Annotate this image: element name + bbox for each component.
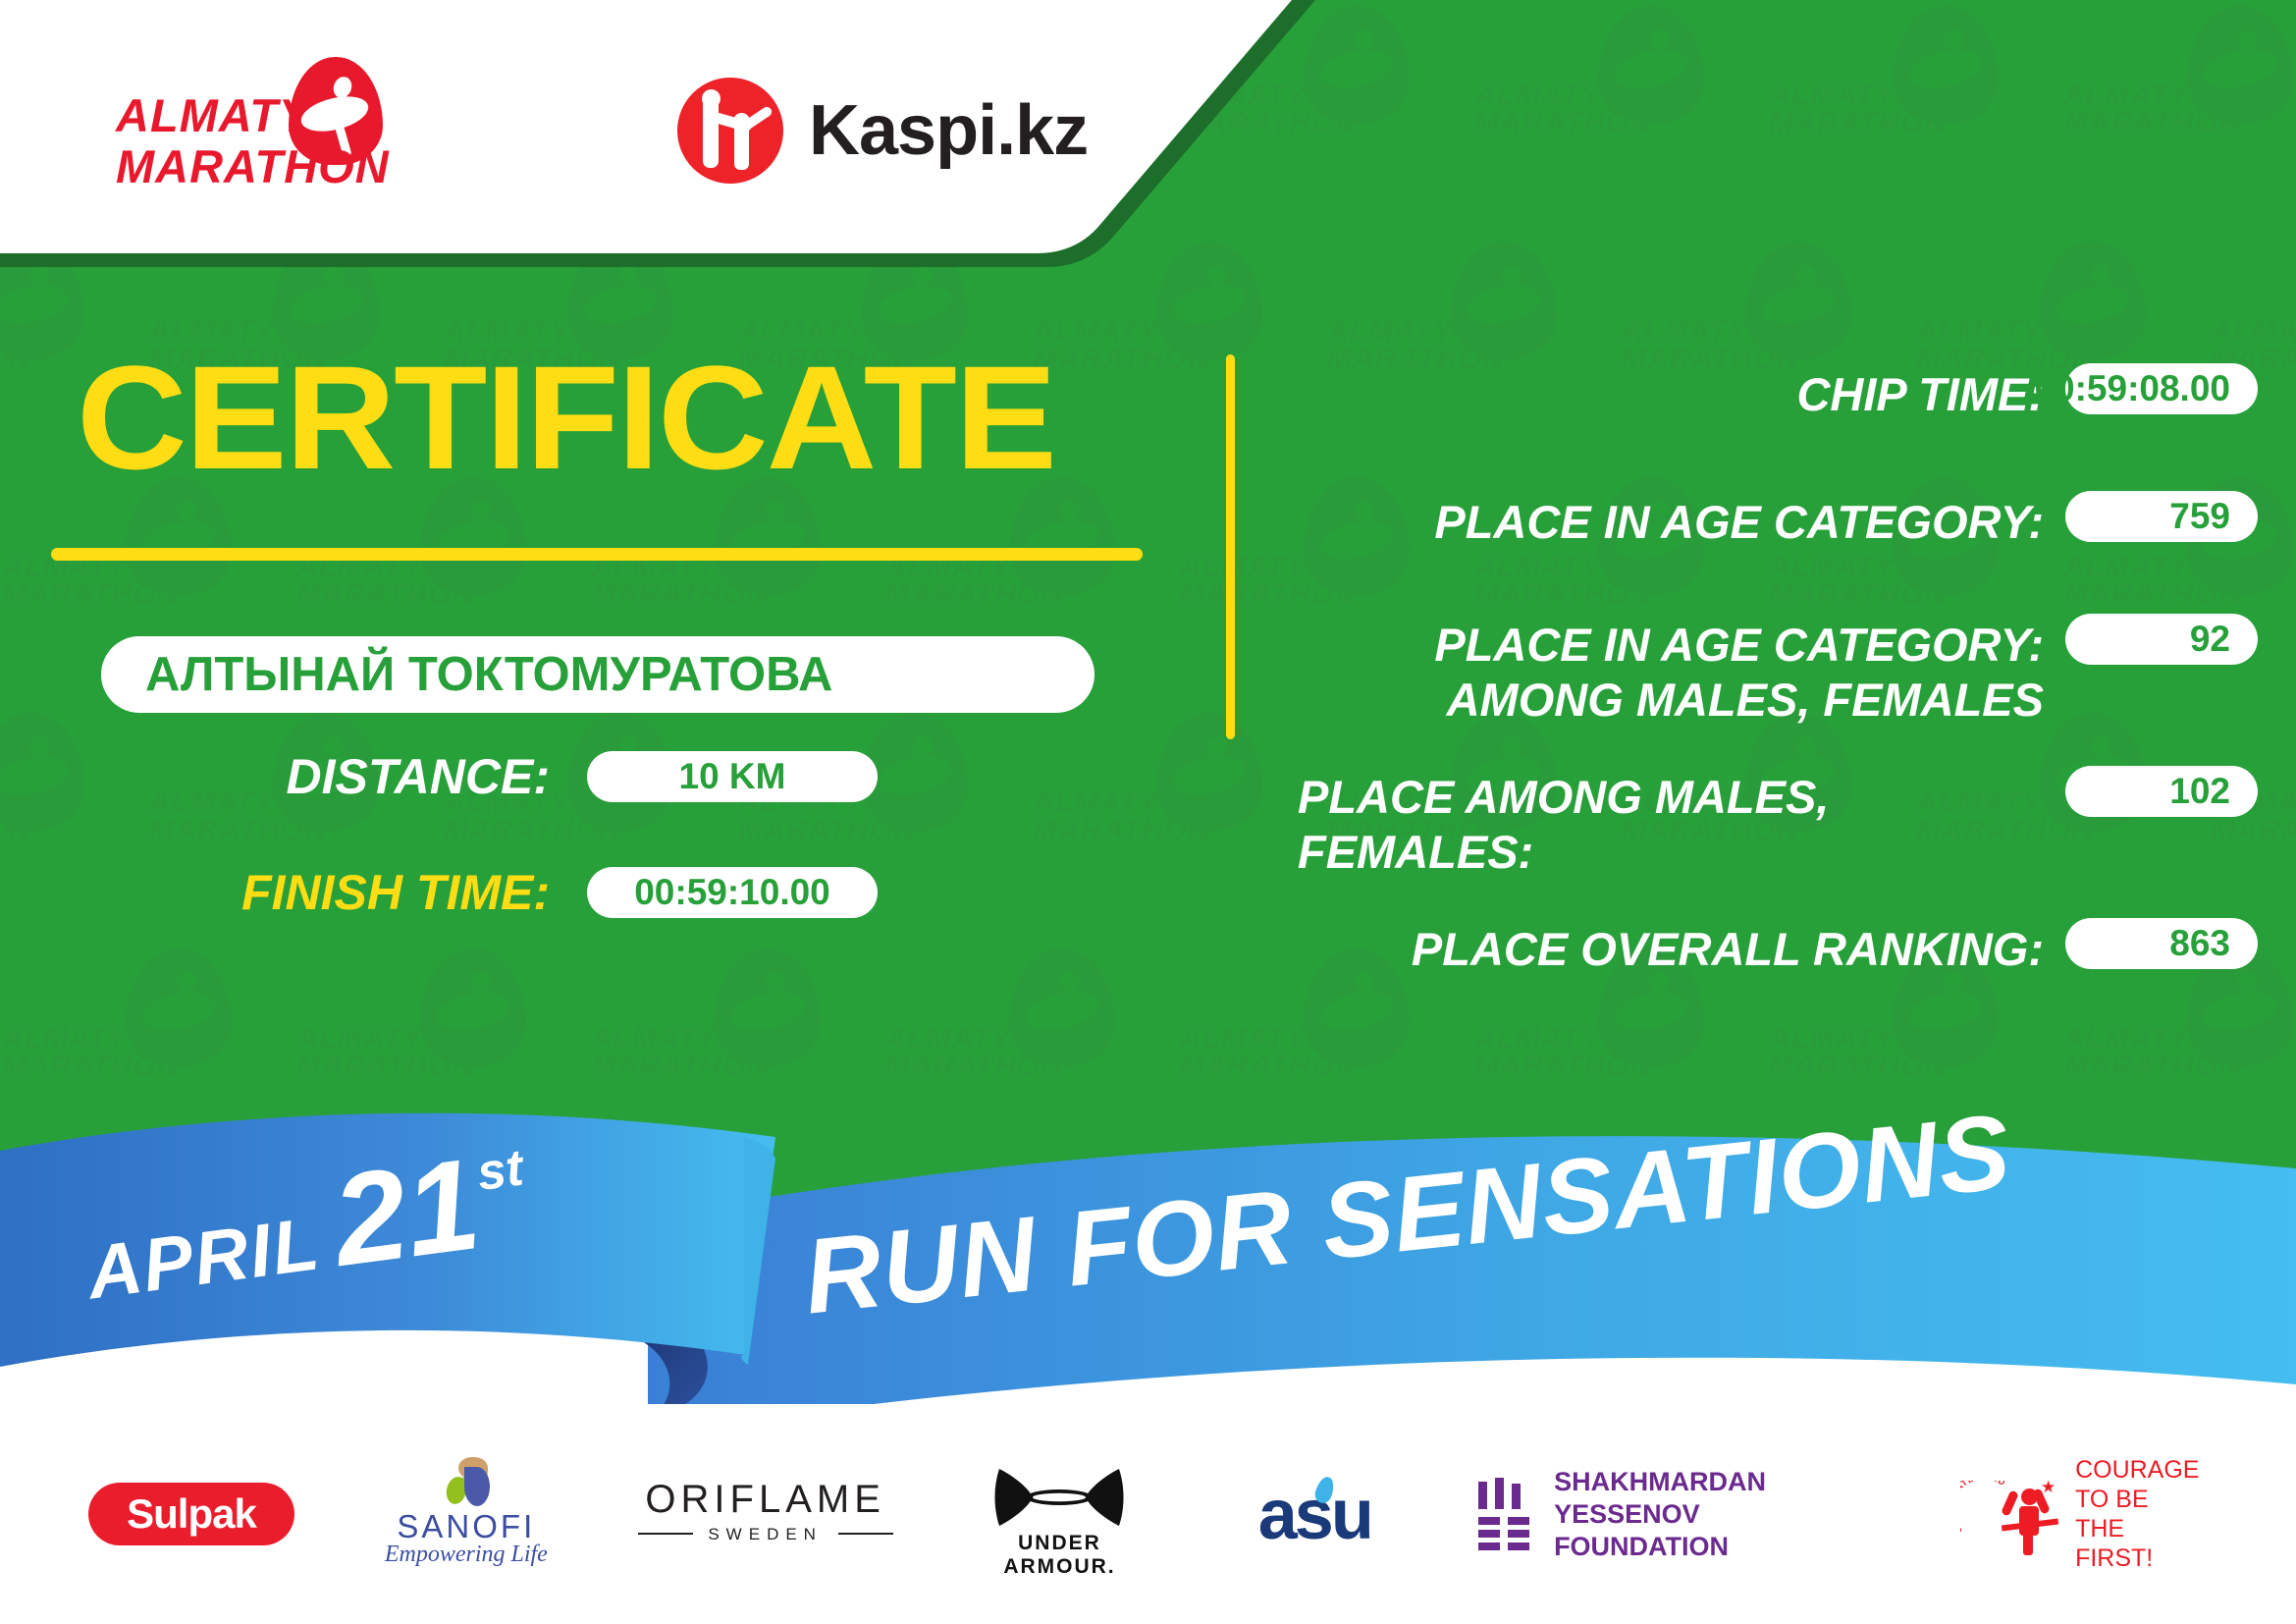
place-age-category-value: 759 xyxy=(2065,491,2258,542)
kaspi-logo: Kaspi.kz xyxy=(677,77,1088,185)
yessenov-logo: SHAKHMARDAN YESSENOV FOUNDATION xyxy=(1476,1466,1889,1563)
place-age-category-gender-label: PLACE IN AGE CATEGORY: AMONG MALES, FEMA… xyxy=(1276,614,2065,728)
ribbon-day-ordinal: st xyxy=(474,1138,527,1203)
watermark-line1: ALMATY xyxy=(1474,554,1720,581)
place-among-gender-label: PLACE AMONG MALES, FEMALES: xyxy=(1276,766,2065,880)
watermark-text: ALMATYMARATHON xyxy=(1769,554,2014,609)
watermark-line2: MARATHON xyxy=(1180,581,1425,609)
watermark-line2: MARATHON xyxy=(2063,581,2296,609)
svg-text:CORPORATE FUND: CORPORATE FUND xyxy=(1960,1481,2007,1536)
certificate-page: ALMATYMARATHONALMATYMARATHONALMATYMARATH… xyxy=(0,0,2296,1624)
ribbon-day: 21 xyxy=(328,1155,484,1271)
watermark-line1: ALMATY xyxy=(1474,82,1720,110)
stat-row-place-overall: PLACE OVERALL RANKING: 863 xyxy=(1276,918,2258,977)
sponsor-strip: Sulpak SANOFI Empowering Life ORIFLAME S… xyxy=(0,1404,2296,1624)
watermark-text: ALMATYMARATHON xyxy=(1769,82,2014,137)
almaty-marathon-logo: ALMATY MARATHON xyxy=(108,57,432,214)
watermark-tile: ALMATYMARATHON xyxy=(2209,236,2296,471)
watermark-line1: ALMATY xyxy=(1769,82,2014,110)
stat-row-chip-time: CHIP TIME: 00:59:08.00 xyxy=(1276,363,2258,422)
watermark-line1: ALMATY xyxy=(1474,1025,1720,1053)
sponsor-sanofi: SANOFI Empowering Life xyxy=(368,1457,564,1571)
place-age-category-gender-value: 92 xyxy=(2065,614,2258,665)
sanofi-mark-icon xyxy=(439,1457,494,1508)
watermark-tile: ALMATYMARATHON xyxy=(1620,236,1914,471)
athlete-name-value: АЛТЫНАЙ ТОКТОМУРАТОВА xyxy=(145,647,832,702)
watermark-text: ALMATYMARATHON xyxy=(2063,82,2296,137)
kaspi-people-circle-icon xyxy=(677,78,783,184)
stat-row-place-among-gender: PLACE AMONG MALES, FEMALES: 102 xyxy=(1276,766,2258,880)
oriflame-logo: ORIFLAME SWEDEN xyxy=(638,1478,893,1550)
watermark-text: ALMATYMARATHON xyxy=(1180,554,1425,609)
watermark-tile: ALMATYMARATHON xyxy=(1472,0,1767,236)
stat-row-place-age-category: PLACE IN AGE CATEGORY: 759 xyxy=(1276,491,2258,550)
stat-row-place-age-category-gender: PLACE IN AGE CATEGORY: AMONG MALES, FEMA… xyxy=(1276,614,2258,728)
distance-row: DISTANCE: 10 KM xyxy=(0,748,982,805)
watermark-line1: ALMATY xyxy=(1769,1025,2014,1053)
yessenov-mark-icon xyxy=(1476,1478,1532,1550)
kaspi-logo-text: Kaspi.kz xyxy=(809,90,1088,171)
oriflame-sub: SWEDEN xyxy=(638,1525,893,1544)
header-panel: ALMATY MARATHON Kaspi.kz xyxy=(0,0,1374,285)
asu-logo: asu xyxy=(1226,1475,1403,1553)
sponsor-asu: asu xyxy=(1226,1475,1403,1553)
place-overall-label: PLACE OVERALL RANKING: xyxy=(1276,918,2065,977)
watermark-line1: ALMATY xyxy=(2063,554,2296,581)
watermark-line1: ALMATY xyxy=(1769,554,2014,581)
under-armour-mark-icon xyxy=(993,1467,1125,1528)
yessenov-wordmark-line2: FOUNDATION xyxy=(1554,1531,1889,1563)
watermark-tile: ALMATYMARATHON xyxy=(2061,0,2296,236)
athlete-name-field: АЛТЫНАЙ ТОКТОМУРАТОВА xyxy=(101,636,1095,713)
courage-fund-logo: CORPORATE FUND ★ COURAGE T xyxy=(1962,1455,2208,1573)
oriflame-wordmark: ORIFLAME xyxy=(638,1478,893,1522)
watermark-line1: ALMATY xyxy=(1180,554,1425,581)
courage-fund-runner-icon: ★ xyxy=(2002,1479,2058,1553)
almaty-logo-line1: ALMATY xyxy=(116,90,390,141)
watermark-line2: MARATHON xyxy=(1474,110,1720,137)
sanofi-tagline: Empowering Life xyxy=(368,1542,564,1568)
watermark-line2: MARATHON xyxy=(2063,110,2296,137)
watermark-line1: ALMATY xyxy=(2063,1025,2296,1053)
watermark-line1: ALMATY xyxy=(1327,318,1573,346)
header-logos: ALMATY MARATHON Kaspi.kz xyxy=(0,0,1374,285)
sulpak-logo: Sulpak xyxy=(88,1483,294,1545)
sanofi-wordmark: SANOFI xyxy=(368,1508,564,1545)
finish-time-label: FINISH TIME: xyxy=(0,864,550,921)
almaty-logo-line2: MARATHON xyxy=(116,141,390,192)
chip-time-label: CHIP TIME: xyxy=(1276,363,2065,422)
watermark-line1: ALMATY xyxy=(2063,82,2296,110)
watermark-text: ALMATYMARATHON xyxy=(1474,554,1720,609)
sponsor-under-armour: UNDER ARMOUR. xyxy=(966,1467,1152,1561)
watermark-line1: ALMATY xyxy=(1622,318,1867,346)
place-age-category-label: PLACE IN AGE CATEGORY: xyxy=(1276,491,2065,550)
watermark-text: ALMATYMARATHON xyxy=(1474,82,1720,137)
distance-value: 10 KM xyxy=(587,751,878,802)
sponsor-yessenov-foundation: SHAKHMARDAN YESSENOV FOUNDATION xyxy=(1476,1466,1889,1563)
sponsor-sulpak: Sulpak xyxy=(88,1483,294,1545)
watermark-line1: ALMATY xyxy=(2211,318,2296,346)
place-overall-value: 863 xyxy=(2065,918,2258,969)
sanofi-logo: SANOFI Empowering Life xyxy=(368,1457,564,1571)
sponsor-oriflame: ORIFLAME SWEDEN xyxy=(638,1478,893,1550)
finish-time-value: 00:59:10.00 xyxy=(587,867,878,918)
place-age-category-gender-label-line2: AMONG MALES, FEMALES xyxy=(1276,673,2044,728)
yessenov-wordmark: SHAKHMARDAN YESSENOV FOUNDATION xyxy=(1554,1466,1889,1563)
courage-fund-mark-icon: CORPORATE FUND ★ xyxy=(1962,1469,2063,1559)
courage-fund-line1: COURAGE xyxy=(2075,1455,2208,1485)
finish-time-row: FINISH TIME: 00:59:10.00 xyxy=(0,864,982,921)
place-among-gender-value: 102 xyxy=(2065,766,2258,817)
watermark-line1: ALMATY xyxy=(1180,1025,1425,1053)
watermark-line2: MARATHON xyxy=(1474,581,1720,609)
courage-fund-line2: TO BE xyxy=(2075,1485,2208,1514)
place-age-category-gender-label-line1: PLACE IN AGE CATEGORY: xyxy=(1276,618,2044,673)
courage-fund-arc-text: CORPORATE FUND xyxy=(1960,1481,2007,1536)
left-column: CERTIFICATE АЛТЫНАЙ ТОКТОМУРАТОВА DISTAN… xyxy=(0,324,1207,1110)
asu-wordmark: asu xyxy=(1226,1475,1403,1555)
watermark-line2: MARATHON xyxy=(1769,581,2014,609)
yessenov-wordmark-line1: SHAKHMARDAN YESSENOV xyxy=(1554,1466,1889,1531)
chip-time-value: 00:59:08.00 xyxy=(2065,363,2258,414)
under-armour-logo: UNDER ARMOUR. xyxy=(966,1467,1152,1561)
watermark-tile: ALMATYMARATHON xyxy=(1914,236,2209,471)
almaty-marathon-logo-text: ALMATY MARATHON xyxy=(116,90,390,192)
under-armour-wordmark: UNDER ARMOUR. xyxy=(966,1532,1152,1579)
page-title: CERTIFICATE xyxy=(77,344,1055,491)
courage-fund-line3: THE FIRST! xyxy=(2075,1514,2208,1573)
courage-fund-wordmark: COURAGE TO BE THE FIRST! xyxy=(2075,1455,2208,1573)
watermark-line2: MARATHON xyxy=(1769,110,2014,137)
watermark-tile: ALMATYMARATHON xyxy=(1767,0,2061,236)
title-underline xyxy=(51,548,1143,561)
place-among-gender-label-line2: FEMALES: xyxy=(1298,825,2044,880)
watermark-line1: ALMATY xyxy=(1916,318,2162,346)
sponsor-courage-fund: CORPORATE FUND ★ COURAGE T xyxy=(1962,1455,2208,1573)
distance-label: DISTANCE: xyxy=(0,748,550,805)
vertical-divider xyxy=(1226,354,1235,739)
watermark-text: ALMATYMARATHON xyxy=(2063,554,2296,609)
place-among-gender-label-line1: PLACE AMONG MALES, xyxy=(1298,770,2044,825)
